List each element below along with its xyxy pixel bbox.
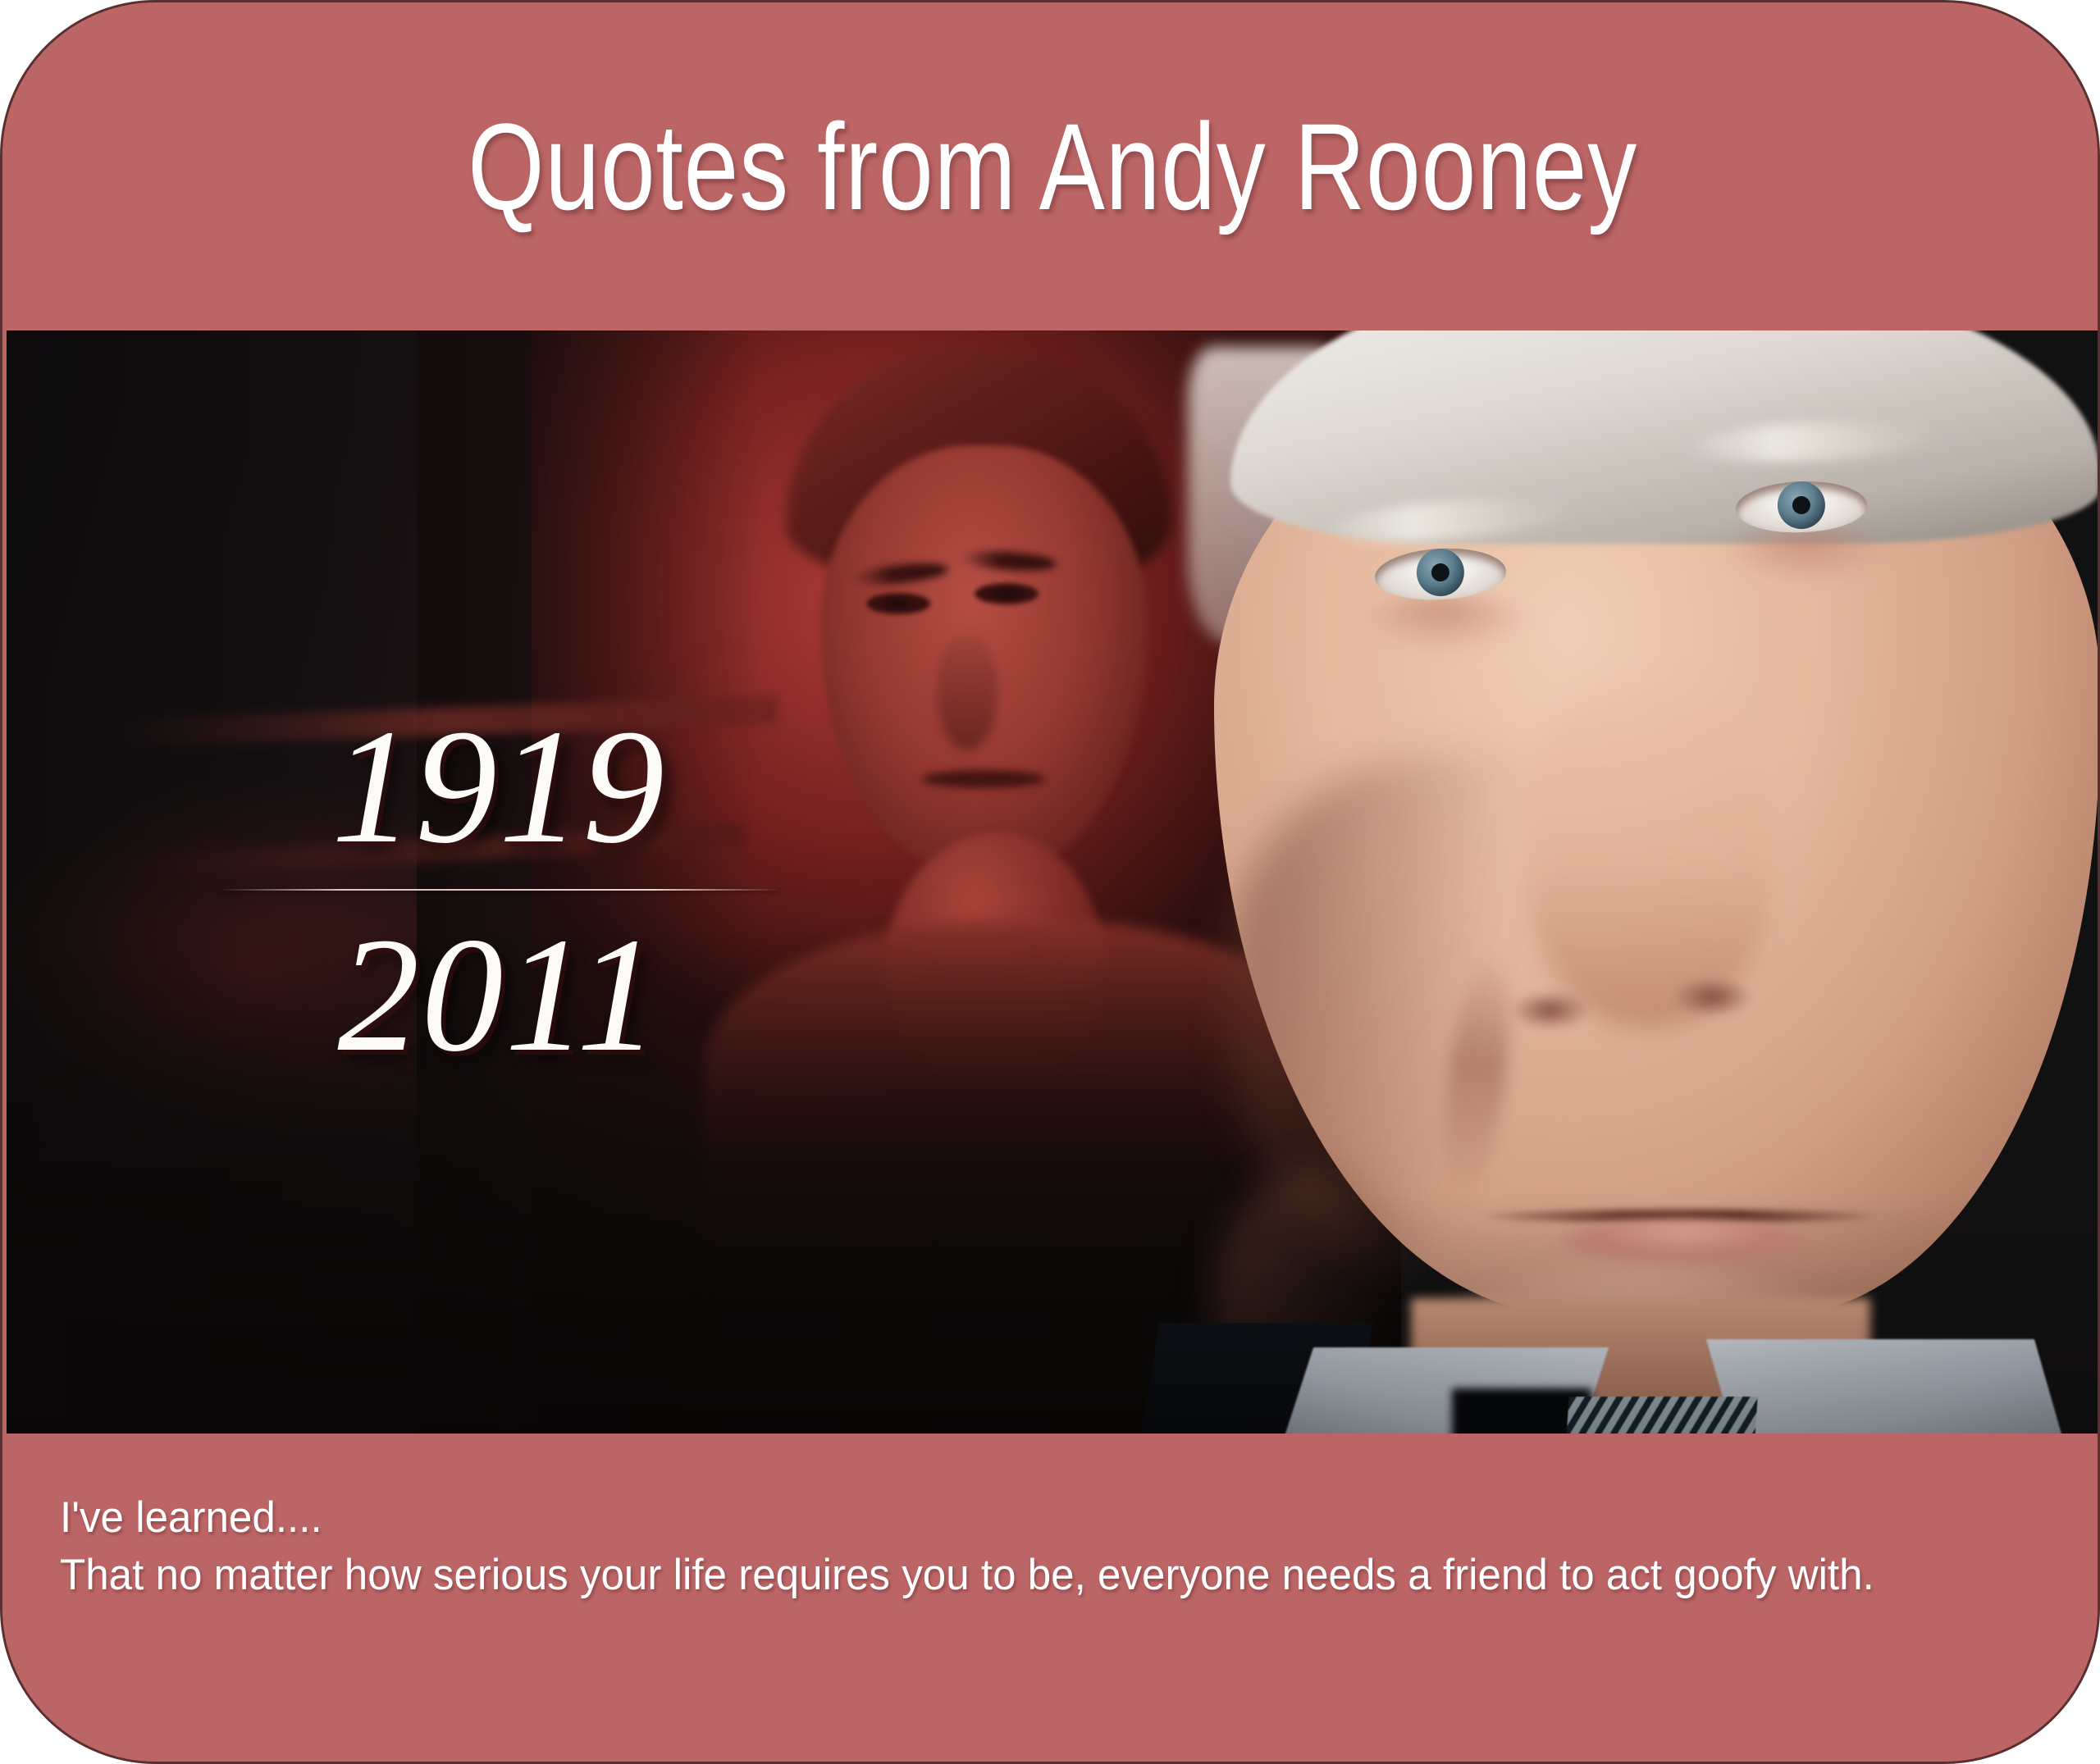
young-rooney-eye-left [866, 593, 930, 614]
life-years-block: 1919 2011 [212, 704, 786, 1079]
photo-stage: 1919 2011 [7, 330, 2100, 1434]
elder-rooney-undereye-right [1719, 526, 1892, 583]
caption-line-1: I've learned.... [60, 1489, 1975, 1547]
iris-right [1777, 481, 1826, 530]
nostril-right [1675, 978, 1751, 1016]
year-divider-rule [220, 889, 778, 891]
death-year: 2011 [212, 912, 786, 1079]
nostril-left [1513, 991, 1588, 1029]
elder-rooney-undereye-left [1357, 595, 1529, 652]
card-caption: I've learned.... That no matter how seri… [2, 1434, 2100, 1764]
young-rooney-nose [937, 636, 997, 750]
pupil-right [1792, 495, 1811, 514]
card-header: Quotes from Andy Rooney [2, 2, 2100, 330]
young-rooney-mouth [922, 770, 1045, 788]
portrait-photo: 1919 2011 [7, 330, 2100, 1434]
lower-lip [1560, 1219, 1806, 1265]
pupil-left [1431, 563, 1449, 581]
elder-rooney-nose [1526, 683, 1772, 1028]
birth-year: 1919 [212, 704, 786, 871]
caption-line-2: That no matter how serious your life req… [60, 1547, 1975, 1604]
young-rooney-eye-right [975, 583, 1039, 604]
elder-rooney-figure [1181, 330, 2100, 1434]
shirt-collar-right [1706, 1339, 2067, 1434]
page-title: Quotes from Andy Rooney [468, 105, 1637, 228]
elder-rooney-mouth [1486, 1178, 1872, 1260]
iris-left [1415, 547, 1465, 597]
quote-card: Quotes from Andy Rooney [0, 0, 2100, 1764]
patterned-necktie [1564, 1397, 1758, 1434]
elder-rooney-hair [1230, 330, 2100, 544]
